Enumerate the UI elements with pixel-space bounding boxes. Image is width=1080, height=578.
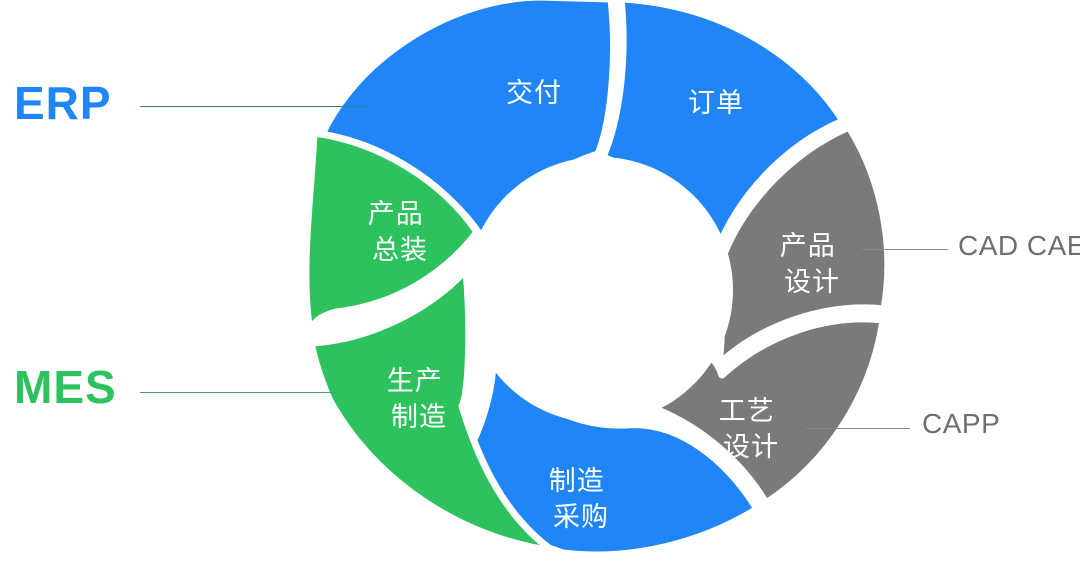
leader-line-capp (806, 428, 910, 429)
segment-process-design-line-0: 工艺 (719, 396, 775, 426)
diagram-canvas: 交付 订单 产品 设计 工艺 设计 (0, 0, 1080, 578)
segment-product-design-line-1: 设计 (784, 267, 840, 297)
label-capp[interactable]: CAPP (922, 408, 1000, 440)
label-cad-cae[interactable]: CAD CAE (958, 230, 1080, 262)
segment-process-design-line-1: 设计 (723, 432, 779, 462)
segment-order-label: 订单 (688, 88, 744, 118)
label-erp[interactable]: ERP (14, 76, 112, 130)
segment-product-assembly-line-0: 产品 (368, 199, 424, 229)
segment-manufacturing-purchase-line-0: 制造 (549, 466, 605, 496)
label-mes[interactable]: MES (14, 360, 117, 414)
segment-production-manufacturing-line-1: 制造 (391, 402, 447, 432)
segment-product-design-line-0: 产品 (780, 231, 836, 261)
leader-line-erp (140, 106, 370, 107)
segment-production-manufacturing-line-0: 生产 (387, 366, 443, 396)
segment-delivery-line-0: 交付 (506, 78, 562, 108)
segment-product-assembly-line-1: 总装 (372, 235, 428, 265)
segment-order-line-0: 订单 (688, 88, 744, 118)
segment-delivery-label: 交付 (506, 78, 562, 108)
leader-line-cad-cae (862, 249, 948, 250)
donut-cycle-diagram: 交付 订单 产品 设计 工艺 设计 (0, 0, 1080, 578)
donut-center-hole (467, 157, 733, 423)
leader-line-mes (140, 392, 335, 393)
segment-manufacturing-purchase-line-1: 采购 (553, 502, 609, 532)
